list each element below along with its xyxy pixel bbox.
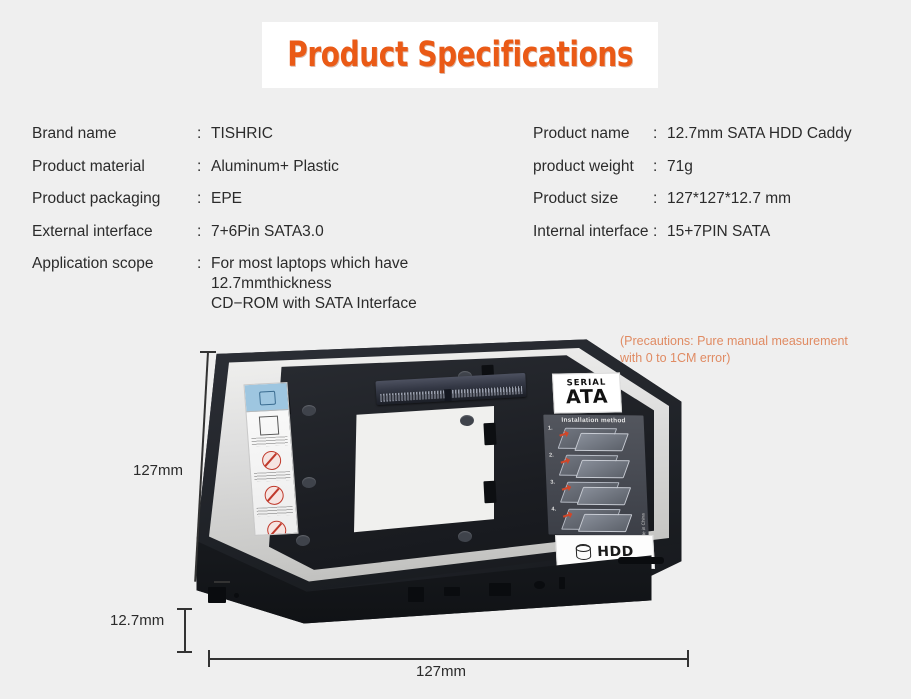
page-title: Product Specifications xyxy=(287,35,633,75)
front-vent-slot xyxy=(618,557,664,564)
dimension-tick xyxy=(687,650,689,667)
installation-step: 2. xyxy=(548,452,643,479)
spec-label: Product packaging xyxy=(32,189,197,209)
fragile-icon xyxy=(258,416,278,436)
caddy-diagram xyxy=(575,460,630,478)
dimension-depth-label: 12.7mm xyxy=(110,612,164,629)
spec-value: Aluminum+ Plastic xyxy=(211,157,502,177)
spec-colon: : xyxy=(653,222,667,242)
spec-row: External interface : 7+6Pin SATA3.0 xyxy=(32,222,502,242)
spec-label: Product name xyxy=(533,124,653,144)
spec-row: Brand name : TISHRIC xyxy=(32,124,502,144)
spec-colon: : xyxy=(653,157,667,177)
step-number: 3. xyxy=(550,480,555,486)
spec-label: Product size xyxy=(533,189,653,209)
product-photo: SERIAL ATA Installation method 1. 2. 3. … xyxy=(186,335,706,645)
caddy-diagram xyxy=(578,514,633,532)
spec-colon: : xyxy=(197,157,211,177)
no-magnet-icon xyxy=(263,485,283,505)
installation-step: 4. xyxy=(550,506,645,533)
dimension-tick xyxy=(177,651,192,653)
dimension-height-label: 127mm xyxy=(133,462,183,479)
spec-value: 71g xyxy=(667,157,911,177)
step-number: 1. xyxy=(548,426,553,432)
front-port xyxy=(559,577,565,589)
installation-step: 1. xyxy=(547,425,642,452)
dimension-width-line xyxy=(208,658,688,660)
spec-row: Application scope : For most laptops whi… xyxy=(32,254,502,314)
front-screw-hole xyxy=(234,593,239,598)
installation-step: 3. xyxy=(549,479,644,506)
title-banner: Product Specifications xyxy=(262,22,658,88)
spec-row: Product name : 12.7mm SATA HDD Caddy xyxy=(533,124,911,144)
spec-value: For most laptops which have 12.7mmthickn… xyxy=(211,254,502,314)
dimension-width-label: 127mm xyxy=(416,663,466,680)
spec-row: Product material : Aluminum+ Plastic xyxy=(32,157,502,177)
step-number: 4. xyxy=(551,507,556,513)
spec-value: EPE xyxy=(211,189,502,209)
spec-value: 15+7PIN SATA xyxy=(667,222,911,242)
spec-colon: : xyxy=(653,189,667,209)
spec-label: Product material xyxy=(32,157,197,177)
spec-value: TISHRIC xyxy=(211,124,502,144)
spec-colon: : xyxy=(197,222,211,242)
spec-row: Product size : 127*127*12.7 mm xyxy=(533,189,911,209)
drive-icon xyxy=(245,383,289,412)
front-port xyxy=(208,587,226,603)
spec-list-right: Product name : 12.7mm SATA HDD Caddy pro… xyxy=(533,124,911,254)
retention-tab xyxy=(483,423,496,446)
front-screw-hole xyxy=(534,581,545,589)
retention-tab xyxy=(483,481,496,504)
spec-colon: : xyxy=(653,124,667,144)
harddisk-icon xyxy=(576,544,592,560)
step-number: 2. xyxy=(549,453,554,459)
spec-value: 127*127*12.7 mm xyxy=(667,189,911,209)
spec-value: 12.7mm SATA HDD Caddy xyxy=(667,124,911,144)
serial-ata-badge: SERIAL ATA xyxy=(552,372,622,413)
spec-row: Product packaging : EPE xyxy=(32,189,502,209)
caddy-diagram xyxy=(577,487,632,505)
spec-value: 7+6Pin SATA3.0 xyxy=(211,222,502,242)
spec-colon: : xyxy=(197,124,211,144)
serial-ata-badge-bottom: ATA xyxy=(566,388,609,408)
dimension-tick xyxy=(177,608,192,610)
front-port xyxy=(444,587,460,596)
front-port xyxy=(489,583,511,596)
spec-colon: : xyxy=(197,254,211,274)
dimension-tick xyxy=(200,351,216,353)
dimension-tick xyxy=(214,581,230,583)
spec-list-left: Brand name : TISHRIC Product material : … xyxy=(32,124,502,327)
installation-method-title: Installation method xyxy=(546,417,640,425)
no-impact-icon xyxy=(261,451,281,471)
spec-label: External interface xyxy=(32,222,197,242)
spec-row: product weight : 71g xyxy=(533,157,911,177)
spec-label: Application scope xyxy=(32,254,197,274)
dimension-depth-line xyxy=(184,608,186,652)
no-disassemble-icon xyxy=(266,520,286,536)
spec-label: product weight xyxy=(533,157,653,177)
spec-colon: : xyxy=(197,189,211,209)
sticker-text-lines xyxy=(257,506,294,517)
sticker-text-lines xyxy=(254,471,291,482)
spec-label: Brand name xyxy=(32,124,197,144)
sticker-text-lines xyxy=(251,436,288,447)
front-port xyxy=(408,587,424,602)
dimension-tick xyxy=(208,650,210,667)
spec-row: Internal interface : 15+7PIN SATA xyxy=(533,222,911,242)
sata-key-gap xyxy=(444,389,452,401)
caddy-diagram xyxy=(574,433,629,451)
installation-method-panel: Installation method 1. 2. 3. 4. Made in … xyxy=(543,415,648,536)
spec-label: Internal interface xyxy=(533,222,653,242)
